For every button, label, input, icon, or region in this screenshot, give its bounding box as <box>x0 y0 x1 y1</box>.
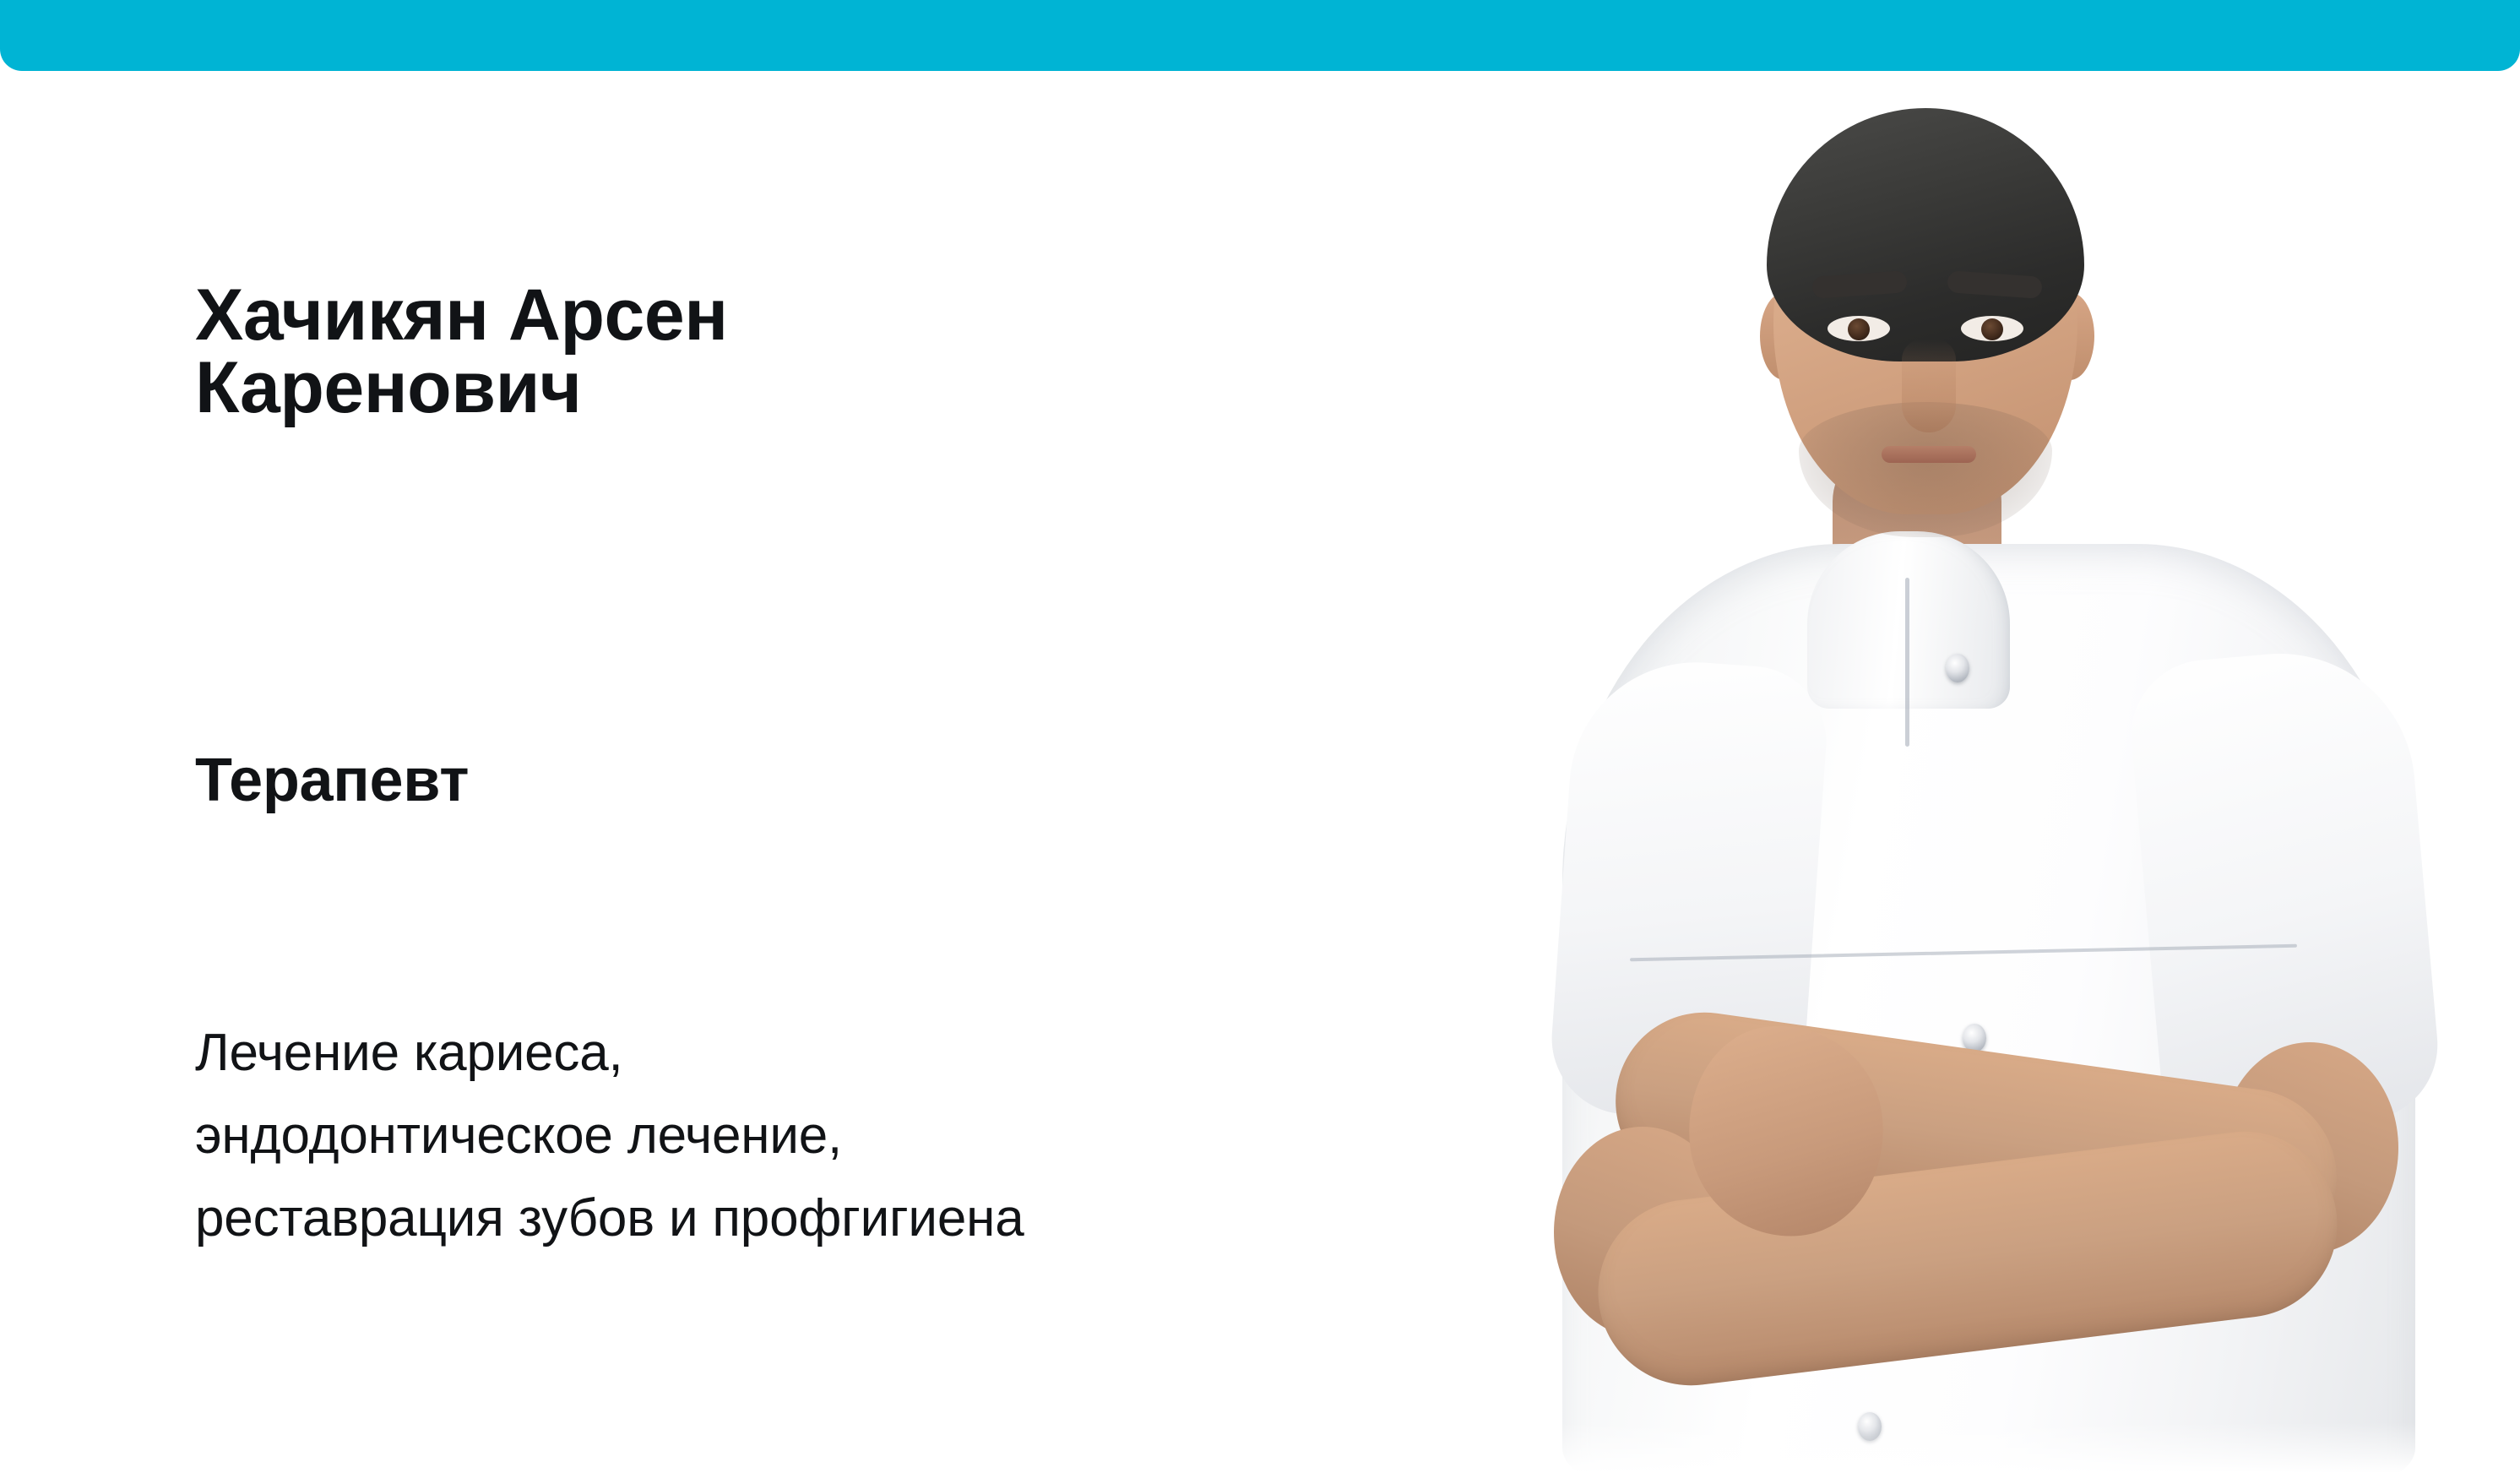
portrait-bottom-fade <box>1436 1422 2520 1473</box>
doctor-specialty: Терапевт <box>195 750 469 811</box>
doctor-portrait <box>1436 71 2520 1473</box>
doctor-name: Хачикян Арсен Каренович <box>195 279 1420 424</box>
portrait-mouth <box>1882 446 1976 463</box>
portrait-figure <box>1436 71 2520 1473</box>
portrait-nose <box>1902 340 1956 432</box>
portrait-snap-button-collar <box>1946 654 1969 682</box>
portrait-eye-right <box>1961 316 2023 341</box>
doctor-info-column: Хачикян Арсен Каренович <box>195 279 1420 424</box>
portrait-collar-seam <box>1905 578 1909 747</box>
portrait-eye-left <box>1828 316 1890 341</box>
portrait-hair <box>1767 108 2084 361</box>
doctor-services-description: Лечение кариеса, эндодонтическое лечение… <box>195 1012 1513 1260</box>
top-accent-bar <box>0 0 2520 71</box>
